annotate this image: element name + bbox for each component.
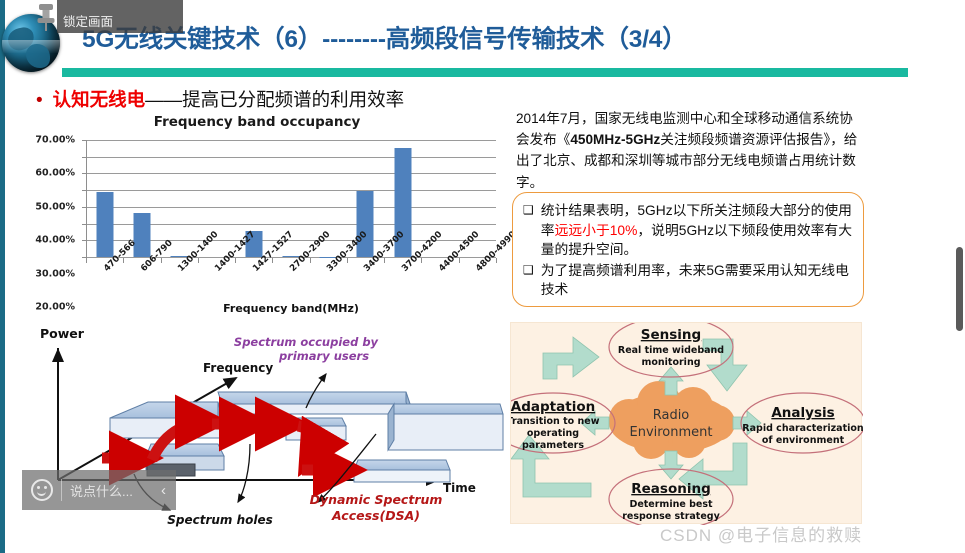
spectrum-slab xyxy=(388,404,503,450)
lock-screen-label: 锁定画面 xyxy=(63,11,113,30)
dynamic-spectrum-access-diagram: Power Frequency Time xyxy=(6,318,506,546)
square-bullet-icon: ❑ xyxy=(523,201,534,260)
bullet-line: • 认知无线电——提高已分配频谱的利用效率 xyxy=(36,86,404,112)
title-underline-rule xyxy=(62,68,908,77)
node-desc-sensing-1: Real time wideband xyxy=(618,345,724,356)
label-spectrum-holes: Spectrum holes xyxy=(167,513,273,527)
label-spectrum-occupied-line2: primary users xyxy=(278,349,369,363)
node-title-adaptation: Adaptation xyxy=(511,399,595,415)
chevron-left-icon[interactable]: ‹ xyxy=(161,482,166,499)
axis-label-frequency: Frequency xyxy=(203,361,273,375)
smiley-icon[interactable] xyxy=(31,479,53,501)
node-desc-adaptation-2: operating xyxy=(527,428,579,439)
watermark: CSDN @电子信息的救赎 xyxy=(660,521,862,546)
findings-callout: ❑ 统计结果表明，5GHz以下所关注频段大部分的使用率远远小于10%，说明5GH… xyxy=(512,192,864,307)
globe-gloss xyxy=(2,40,60,53)
label-spectrum-occupied-line1: Spectrum occupied by xyxy=(234,335,379,349)
y-axis-tick-label: 60.00% xyxy=(35,168,75,179)
callout-item: ❑ 为了提高频谱利用率，未来5G需要采用认知无线电技术 xyxy=(523,261,853,300)
comment-divider xyxy=(61,479,62,501)
node-desc-analysis-2: of environment xyxy=(762,435,845,446)
center-label-line1: Radio xyxy=(653,408,690,423)
chart-bar xyxy=(133,213,150,257)
chart-title: Frequency band occupancy xyxy=(8,112,506,130)
y-axis-tick-label: 50.00% xyxy=(35,201,75,212)
chart-bar xyxy=(96,192,113,257)
comment-input[interactable]: 说点什么... xyxy=(70,481,161,500)
node-title-reasoning: Reasoning xyxy=(631,481,710,497)
bullet-rest-text: ——提高已分配频谱的利用效率 xyxy=(145,89,404,110)
cognitive-radio-cycle-diagram: Radio Environment S xyxy=(510,322,862,524)
node-desc-adaptation-3: parameters xyxy=(522,440,584,451)
y-axis-tick-label: 40.00% xyxy=(35,235,75,246)
vertical-scrollbar[interactable] xyxy=(956,247,963,331)
callout-item: ❑ 统计结果表明，5GHz以下所关注频段大部分的使用率远远小于10%，说明5GH… xyxy=(523,201,853,260)
comment-bar[interactable]: 说点什么... ‹ xyxy=(22,470,176,510)
x-axis-title: Frequency band(MHz) xyxy=(86,302,496,315)
axis-label-time: Time xyxy=(443,481,476,495)
axis-label-power: Power xyxy=(40,326,85,341)
callout-highlight: 远远小于10% xyxy=(555,223,638,238)
pushpin-icon[interactable] xyxy=(35,2,57,32)
left-accent-rail xyxy=(0,0,5,553)
label-dsa-line1: Dynamic Spectrum xyxy=(310,492,443,507)
node-desc-adaptation-1: Transition to new xyxy=(511,416,600,427)
y-axis-tick-label: 30.00% xyxy=(35,268,75,279)
node-desc-reasoning-1: Determine best xyxy=(629,499,713,510)
square-bullet-icon: ❑ xyxy=(523,261,534,300)
node-title-analysis: Analysis xyxy=(771,405,834,421)
bar-cell xyxy=(86,140,123,257)
paragraph-bold-range: 450MHz-5GHz xyxy=(570,132,660,147)
bullet-marker: • xyxy=(36,91,43,110)
screen: 5G无线关键技术（6）--------高频段信号传输技术（3/4） • 认知无线… xyxy=(0,0,965,553)
y-axis-tick-label: 70.00% xyxy=(35,135,75,146)
y-axis-tick-label: 20.00% xyxy=(35,302,75,313)
chart-bar xyxy=(357,191,374,257)
node-desc-analysis-1: Rapid characterization xyxy=(742,423,863,434)
spectrum-slab xyxy=(354,460,450,482)
frequency-band-occupancy-chart: Frequency band occupancy 70.00%60.00%50.… xyxy=(8,112,506,317)
node-title-sensing: Sensing xyxy=(641,327,701,343)
spectrum-slab xyxy=(218,392,410,414)
page-title: 5G无线关键技术（6）--------高频段信号传输技术（3/4） xyxy=(82,20,962,55)
intro-paragraph: 2014年7月，国家无线电监测中心和全球移动通信系统协会发布《450MHz-5G… xyxy=(516,108,860,193)
bullet-red-text: 认知无线电 xyxy=(53,89,146,110)
label-dsa-line2: Access(DSA) xyxy=(331,508,420,523)
center-label-line2: Environment xyxy=(629,425,712,440)
lock-screen-tooltip[interactable]: 锁定画面 xyxy=(57,0,183,33)
node-desc-sensing-2: monitoring xyxy=(641,357,700,368)
callout-item-text-1: 为了提高频谱利用率，未来5G需要采用认知无线电技术 xyxy=(541,261,853,300)
